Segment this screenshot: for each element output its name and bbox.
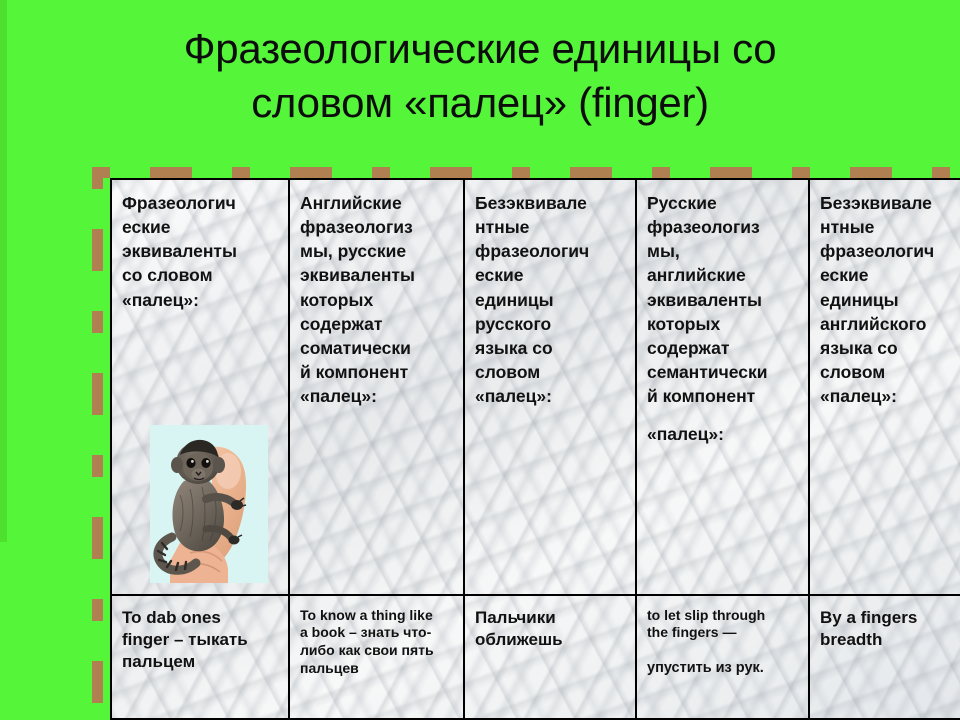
table-header-label-2: Английские фразеологиз мы, русские эквив… bbox=[300, 191, 454, 408]
table-cell-1-1: To dab ones finger – тыкать пальцем bbox=[111, 595, 289, 719]
table-header-cell-4: Русские фразеологиз мы, английские эквив… bbox=[636, 179, 809, 595]
table-header-label-4-tail: «палец»: bbox=[647, 422, 799, 446]
table-cell-text-1-5: By a fingers breadth bbox=[820, 607, 951, 651]
table-row: To dab ones finger – тыкать пальцем To k… bbox=[111, 595, 960, 719]
table-cell-text-1-4-tail: упустить из рук. bbox=[647, 659, 799, 678]
decorative-left-border-strip bbox=[92, 167, 103, 720]
table-cell-text-1-2: To know a thing like a book – знать что-… bbox=[300, 607, 454, 679]
table-cell-1-5: By a fingers breadth bbox=[809, 595, 960, 719]
table-header-label-3: Безэквивале нтные фразеологич еские един… bbox=[475, 191, 626, 408]
table-header-cell-2: Английские фразеологиз мы, русские эквив… bbox=[289, 179, 464, 595]
table-cell-text-1-1: To dab ones finger – тыкать пальцем bbox=[122, 607, 279, 673]
table-cell-text-1-3: Пальчики оближешь bbox=[475, 607, 626, 651]
table-cell-1-2: To know a thing like a book – знать что-… bbox=[289, 595, 464, 719]
page-title: Фразеологические единицы со словом «пале… bbox=[0, 22, 960, 130]
decorative-top-border-strip bbox=[92, 167, 960, 178]
marmoset-on-finger-photo bbox=[150, 425, 268, 583]
marmoset-on-finger-illustration bbox=[150, 425, 268, 583]
table-header-cell-5: Безэквивале нтные фразеологич еские един… bbox=[809, 179, 960, 595]
table-header-label-5: Безэквивале нтные фразеологич еские един… bbox=[820, 191, 951, 408]
table-cell-1-3: Пальчики оближешь bbox=[464, 595, 636, 719]
table-cell-1-4: to let slip through the fingers — упусти… bbox=[636, 595, 809, 719]
table-header-label-4: Русские фразеологиз мы, английские эквив… bbox=[647, 191, 799, 408]
table-header-label-1: Фразеологич еские эквиваленты со словом … bbox=[122, 191, 279, 312]
table-header-cell-3: Безэквивале нтные фразеологич еские един… bbox=[464, 179, 636, 595]
table-cell-text-1-4: to let slip through the fingers — bbox=[647, 607, 799, 643]
